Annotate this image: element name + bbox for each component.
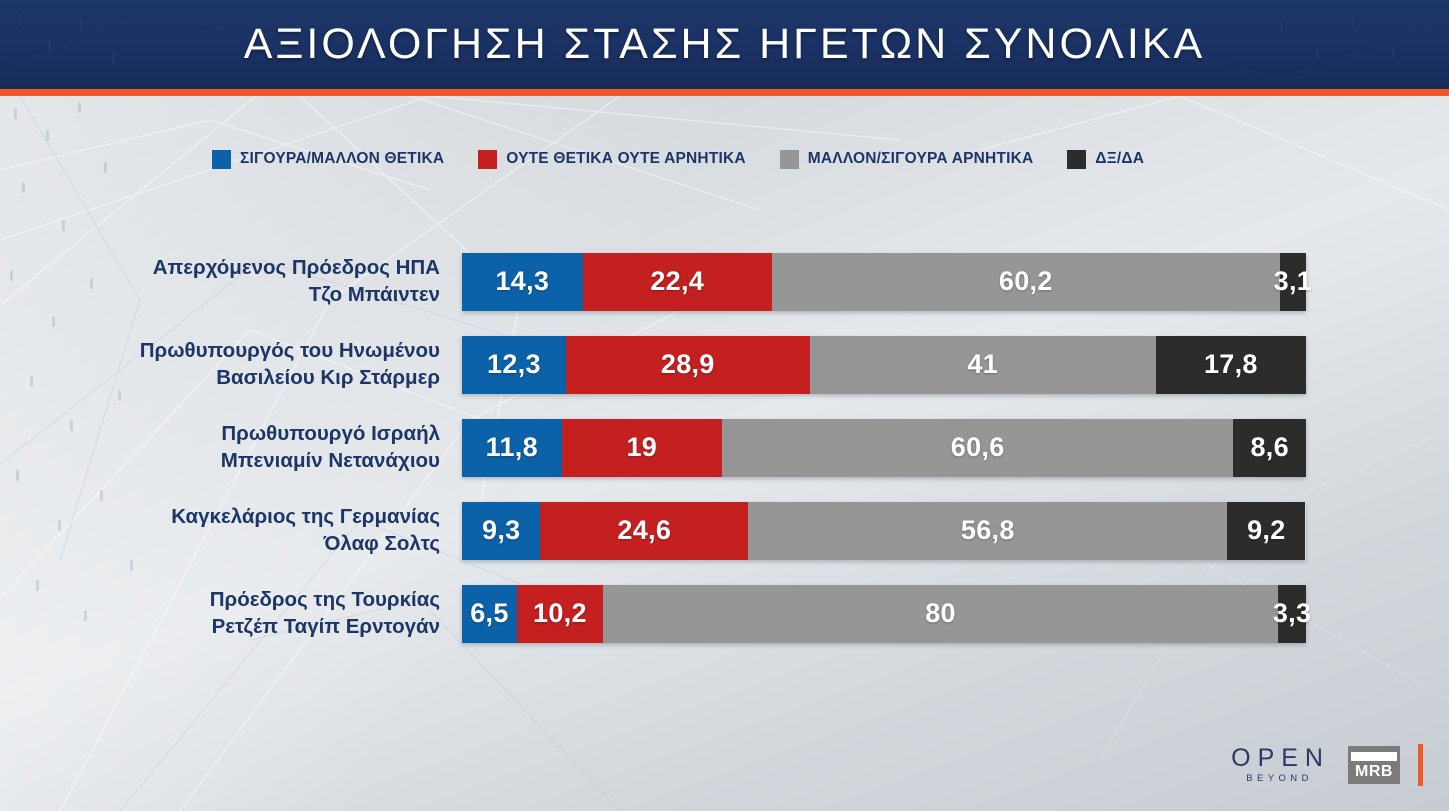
bar-segment-negative[interactable]: 41 [810, 336, 1156, 394]
segment-value: 22,4 [650, 268, 704, 295]
row-label: Πρόεδρος της Τουρκίας Ρετζέπ Ταγίπ Ερντο… [0, 587, 462, 640]
stacked-bar-chart: Απερχόμενος Πρόεδρος ΗΠΑ Τζο Μπάιντεν 14… [0, 240, 1449, 655]
square-swatch-icon [780, 150, 799, 169]
legend-label: ΟΥΤΕ ΘΕΤΙΚΑ ΟΥΤΕ ΑΡΝΗΤΙΚΑ [506, 150, 746, 168]
bar-segment-neutral[interactable]: 10,2 [517, 585, 603, 643]
bar-segment-negative[interactable]: 60,6 [722, 419, 1233, 477]
bar-segment-dont-know[interactable]: 3,1 [1280, 253, 1306, 311]
bar-segment-positive[interactable]: 12,3 [462, 336, 566, 394]
bar-segment-dont-know[interactable]: 9,2 [1227, 502, 1305, 560]
bar-segment-negative[interactable]: 80 [603, 585, 1278, 643]
segment-value: 3,1 [1274, 268, 1312, 295]
bar-track: 12,3 28,9 41 17,8 [462, 336, 1306, 394]
legend-label: ΜΑΛΛΟΝ/ΣΙΓΟΥΡΑ ΑΡΝΗΤΙΚΑ [808, 150, 1034, 168]
bar-segment-neutral[interactable]: 28,9 [566, 336, 810, 394]
segment-value: 80 [925, 600, 956, 627]
bar-track: 9,3 24,6 56,8 9,2 [462, 502, 1306, 560]
bar-segment-neutral[interactable]: 19 [562, 419, 722, 477]
segment-value: 8,6 [1250, 434, 1288, 461]
square-swatch-icon [212, 150, 231, 169]
segment-value: 14,3 [495, 268, 549, 295]
bar-segment-dont-know[interactable]: 3,3 [1278, 585, 1306, 643]
row-label: Πρωθυπουργός του Ηνωμένου Βασιλείου Κιρ … [0, 338, 462, 391]
bar-segment-positive[interactable]: 9,3 [462, 502, 540, 560]
square-swatch-icon [478, 150, 497, 169]
chart-row: Καγκελάριος της Γερμανίας Όλαφ Σολτς 9,3… [0, 489, 1449, 572]
bar-segment-negative[interactable]: 60,2 [772, 253, 1280, 311]
mrb-logo-word: MRB [1355, 764, 1393, 781]
segment-value: 17,8 [1204, 351, 1258, 378]
legend-item-dont-know[interactable]: ΔΞ/ΔΑ [1067, 146, 1144, 172]
mrb-logo-stripe [1351, 752, 1397, 761]
bar-track: 14,3 22,4 60,2 3,1 [462, 253, 1306, 311]
open-beyond-logo: OPEN BEYOND [1224, 746, 1330, 784]
footer-logos: OPEN BEYOND MRB [1224, 741, 1423, 789]
bar-segment-positive[interactable]: 6,5 [462, 585, 517, 643]
legend-item-negative[interactable]: ΜΑΛΛΟΝ/ΣΙΓΟΥΡΑ ΑΡΝΗΤΙΚΑ [780, 146, 1034, 172]
legend-label: ΔΞ/ΔΑ [1095, 150, 1144, 168]
bar-segment-neutral[interactable]: 24,6 [540, 502, 748, 560]
open-logo-tagline: BEYOND [1241, 774, 1313, 784]
segment-value: 19 [626, 434, 657, 461]
slide-header: ΑΞΙΟΛΟΓΗΣΗ ΣΤΑΣΗΣ ΗΓΕΤΩΝ ΣΥΝΟΛΙΚΑ [0, 0, 1449, 89]
segment-value: 3,3 [1273, 600, 1311, 627]
segment-value: 9,3 [482, 517, 520, 544]
segment-value: 12,3 [487, 351, 541, 378]
segment-value: 6,5 [470, 600, 508, 627]
segment-value: 11,8 [486, 434, 538, 461]
row-label: Καγκελάριος της Γερμανίας Όλαφ Σολτς [0, 504, 462, 557]
bar-segment-dont-know[interactable]: 8,6 [1233, 419, 1306, 477]
segment-value: 10,2 [533, 600, 587, 627]
bar-track: 6,5 10,2 80 3,3 [462, 585, 1306, 643]
square-swatch-icon [1067, 150, 1086, 169]
chart-row: Πρωθυπουργό Ισραήλ Μπενιαμίν Νετανάχιου … [0, 406, 1449, 489]
bar-segment-neutral[interactable]: 22,4 [583, 253, 772, 311]
bar-segment-positive[interactable]: 11,8 [462, 419, 562, 477]
slide-canvas: ΑΞΙΟΛΟΓΗΣΗ ΣΤΑΣΗΣ ΗΓΕΤΩΝ ΣΥΝΟΛΙΚΑ ΣΙΓΟΥΡ… [0, 0, 1449, 811]
legend-item-neutral[interactable]: ΟΥΤΕ ΘΕΤΙΚΑ ΟΥΤΕ ΑΡΝΗΤΙΚΑ [478, 146, 746, 172]
chart-row: Απερχόμενος Πρόεδρος ΗΠΑ Τζο Μπάιντεν 14… [0, 240, 1449, 323]
segment-value: 28,9 [661, 351, 715, 378]
chart-row: Πρωθυπουργός του Ηνωμένου Βασιλείου Κιρ … [0, 323, 1449, 406]
header-accent-bar [0, 89, 1449, 96]
row-label: Απερχόμενος Πρόεδρος ΗΠΑ Τζο Μπάιντεν [0, 255, 462, 308]
bar-segment-dont-know[interactable]: 17,8 [1156, 336, 1306, 394]
bar-segment-negative[interactable]: 56,8 [748, 502, 1227, 560]
legend-item-positive[interactable]: ΣΙΓΟΥΡΑ/ΜΑΛΛΟΝ ΘΕΤΙΚΑ [212, 146, 444, 172]
segment-value: 60,6 [951, 434, 1005, 461]
segment-value: 56,8 [961, 517, 1015, 544]
bar-track: 11,8 19 60,6 8,6 [462, 419, 1306, 477]
mrb-logo: MRB [1348, 746, 1400, 784]
open-logo-word: OPEN [1224, 746, 1330, 771]
page-title: ΑΞΙΟΛΟΓΗΣΗ ΣΤΑΣΗΣ ΗΓΕΤΩΝ ΣΥΝΟΛΙΚΑ [0, 0, 1449, 89]
chart-row: Πρόεδρος της Τουρκίας Ρετζέπ Ταγίπ Ερντο… [0, 572, 1449, 655]
legend-label: ΣΙΓΟΥΡΑ/ΜΑΛΛΟΝ ΘΕΤΙΚΑ [240, 150, 444, 168]
row-label: Πρωθυπουργό Ισραήλ Μπενιαμίν Νετανάχιου [0, 421, 462, 474]
segment-value: 41 [967, 351, 998, 378]
segment-value: 24,6 [617, 517, 671, 544]
chart-legend: ΣΙΓΟΥΡΑ/ΜΑΛΛΟΝ ΘΕΤΙΚΑ ΟΥΤΕ ΘΕΤΙΚΑ ΟΥΤΕ Α… [212, 146, 1144, 172]
segment-value: 60,2 [999, 268, 1053, 295]
footer-accent-tick [1418, 744, 1423, 786]
segment-value: 9,2 [1247, 517, 1285, 544]
bar-segment-positive[interactable]: 14,3 [462, 253, 583, 311]
